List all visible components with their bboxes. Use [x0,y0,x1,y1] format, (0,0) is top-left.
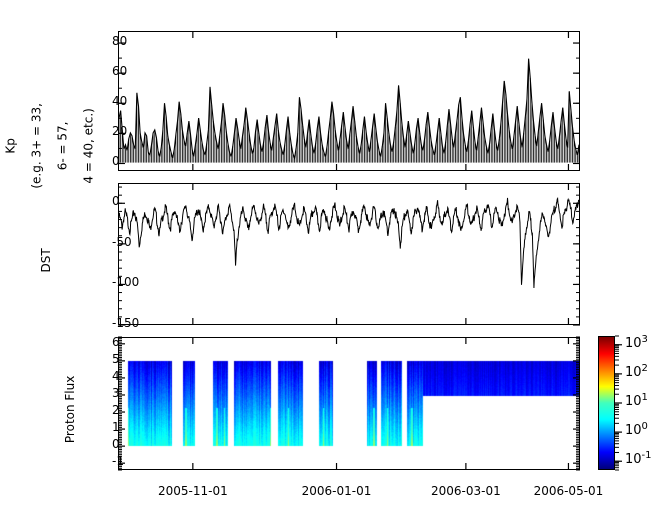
xtick-label-3: 2006-05-01 [534,484,604,498]
colorbar-tick-label-4: 103 [625,334,648,351]
dst-label-text: DST [39,248,53,272]
colorbar [598,336,615,470]
kp-panel [118,31,580,171]
protonflux-panel [118,337,580,470]
kp-label-line2: (e.g. 3+ = 33, [30,103,44,189]
protonflux-spectrogram [119,338,579,469]
colorbar-gradient [599,337,614,469]
protonflux-label-text: Proton Flux [63,376,77,443]
dst-axis-label: DST [25,238,67,298]
kp-stems [119,59,579,163]
xtick-label-2: 2006-03-01 [431,484,501,498]
kp-trace [119,59,579,158]
space-weather-figure: Kp (e.g. 3+ = 33, 6- = 57, 4 = 40, etc.)… [0,0,665,523]
kp-label-line4: 4 = 40, etc.) [82,108,96,183]
kp-axis-label: Kp (e.g. 3+ = 33, 6- = 57, 4 = 40, etc.) [0,74,109,234]
colorbar-tick-label-2: 101 [625,392,648,409]
colorbar-tick-label-3: 102 [625,363,648,380]
kp-label-line1: Kp [4,138,18,154]
kp-label-line3: 6- = 57, [56,122,70,171]
protonflux-axis-label: Proton Flux [49,357,91,477]
colorbar-tick-label-1: 100 [625,421,648,438]
kp-plot-area [119,32,579,170]
dst-trace [119,198,579,288]
xtick-label-1: 2006-01-01 [302,484,372,498]
dst-plot-area [119,184,579,324]
colorbar-tick-label-0: 10-1 [625,450,652,467]
dst-panel [118,183,580,325]
xtick-label-0: 2005-11-01 [158,484,228,498]
